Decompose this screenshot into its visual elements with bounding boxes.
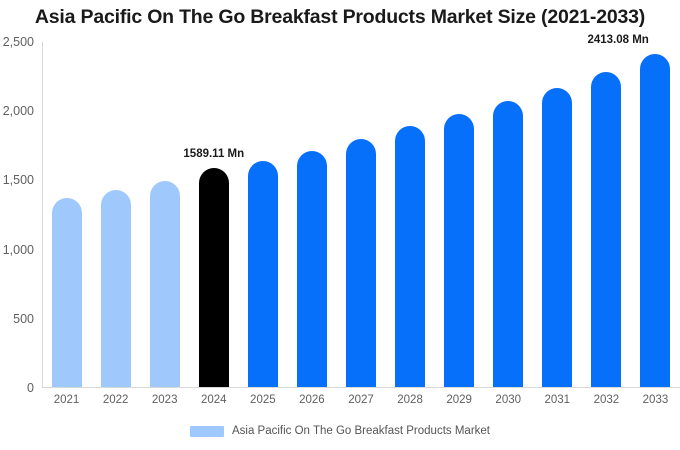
y-axis-tick-label: 1,500 [0, 173, 34, 187]
chart-legend: Asia Pacific On The Go Breakfast Product… [0, 425, 680, 437]
bar-slot [140, 42, 189, 388]
bar[interactable] [52, 198, 82, 388]
y-axis-tick-label: 2,500 [0, 35, 34, 49]
bar-slot [582, 42, 631, 388]
x-axis-tick-label: 2025 [250, 394, 276, 406]
x-axis-tick-label: 2033 [643, 394, 669, 406]
bar-slot [189, 42, 238, 388]
bar-slot [484, 42, 533, 388]
chart-container: Asia Pacific On The Go Breakfast Product… [0, 0, 680, 450]
x-axis-tick-label: 2026 [299, 394, 325, 406]
bar-slot [42, 42, 91, 388]
bar-value-label: 2413.08 Mn [587, 34, 648, 46]
x-axis-tick-label: 2022 [103, 394, 129, 406]
bar[interactable] [493, 101, 523, 388]
y-axis-tick-label: 1,000 [0, 243, 34, 257]
bar-slot [91, 42, 140, 388]
legend-label: Asia Pacific On The Go Breakfast Product… [232, 425, 490, 437]
y-axis-tick-label: 500 [0, 312, 34, 326]
x-axis-tick-label: 2021 [54, 394, 80, 406]
x-axis-tick-label: 2028 [397, 394, 423, 406]
legend-swatch [190, 426, 224, 437]
x-axis-line [42, 387, 680, 388]
x-axis-tick-label: 2030 [495, 394, 521, 406]
plot-area [42, 42, 680, 388]
y-axis-tick-label: 2,000 [0, 104, 34, 118]
chart-title: Asia Pacific On The Go Breakfast Product… [0, 6, 680, 29]
bar-slot [533, 42, 582, 388]
bar[interactable] [199, 168, 229, 388]
bar[interactable] [150, 181, 180, 388]
legend-item[interactable]: Asia Pacific On The Go Breakfast Product… [190, 425, 490, 437]
bar-slot [287, 42, 336, 388]
x-axis-tick-label: 2029 [446, 394, 472, 406]
bar[interactable] [444, 114, 474, 388]
bar[interactable] [395, 126, 425, 388]
x-axis-tick-label: 2032 [594, 394, 620, 406]
bar[interactable] [640, 54, 670, 388]
bar-value-label: 1589.11 Mn [183, 148, 244, 160]
bar[interactable] [248, 161, 278, 388]
bar[interactable] [346, 139, 376, 388]
bar[interactable] [542, 88, 572, 388]
x-axis-tick-label: 2023 [152, 394, 178, 406]
bar-slot [435, 42, 484, 388]
y-axis-tick-label: 0 [0, 381, 34, 395]
bar-slot [336, 42, 385, 388]
bar-slot [631, 42, 680, 388]
bar[interactable] [591, 72, 621, 388]
x-axis-tick-label: 2024 [201, 394, 227, 406]
x-axis-tick-label: 2031 [545, 394, 571, 406]
bar-slot [238, 42, 287, 388]
bar[interactable] [101, 190, 131, 388]
x-axis-tick-label: 2027 [348, 394, 374, 406]
bar-slot [386, 42, 435, 388]
bar[interactable] [297, 151, 327, 388]
